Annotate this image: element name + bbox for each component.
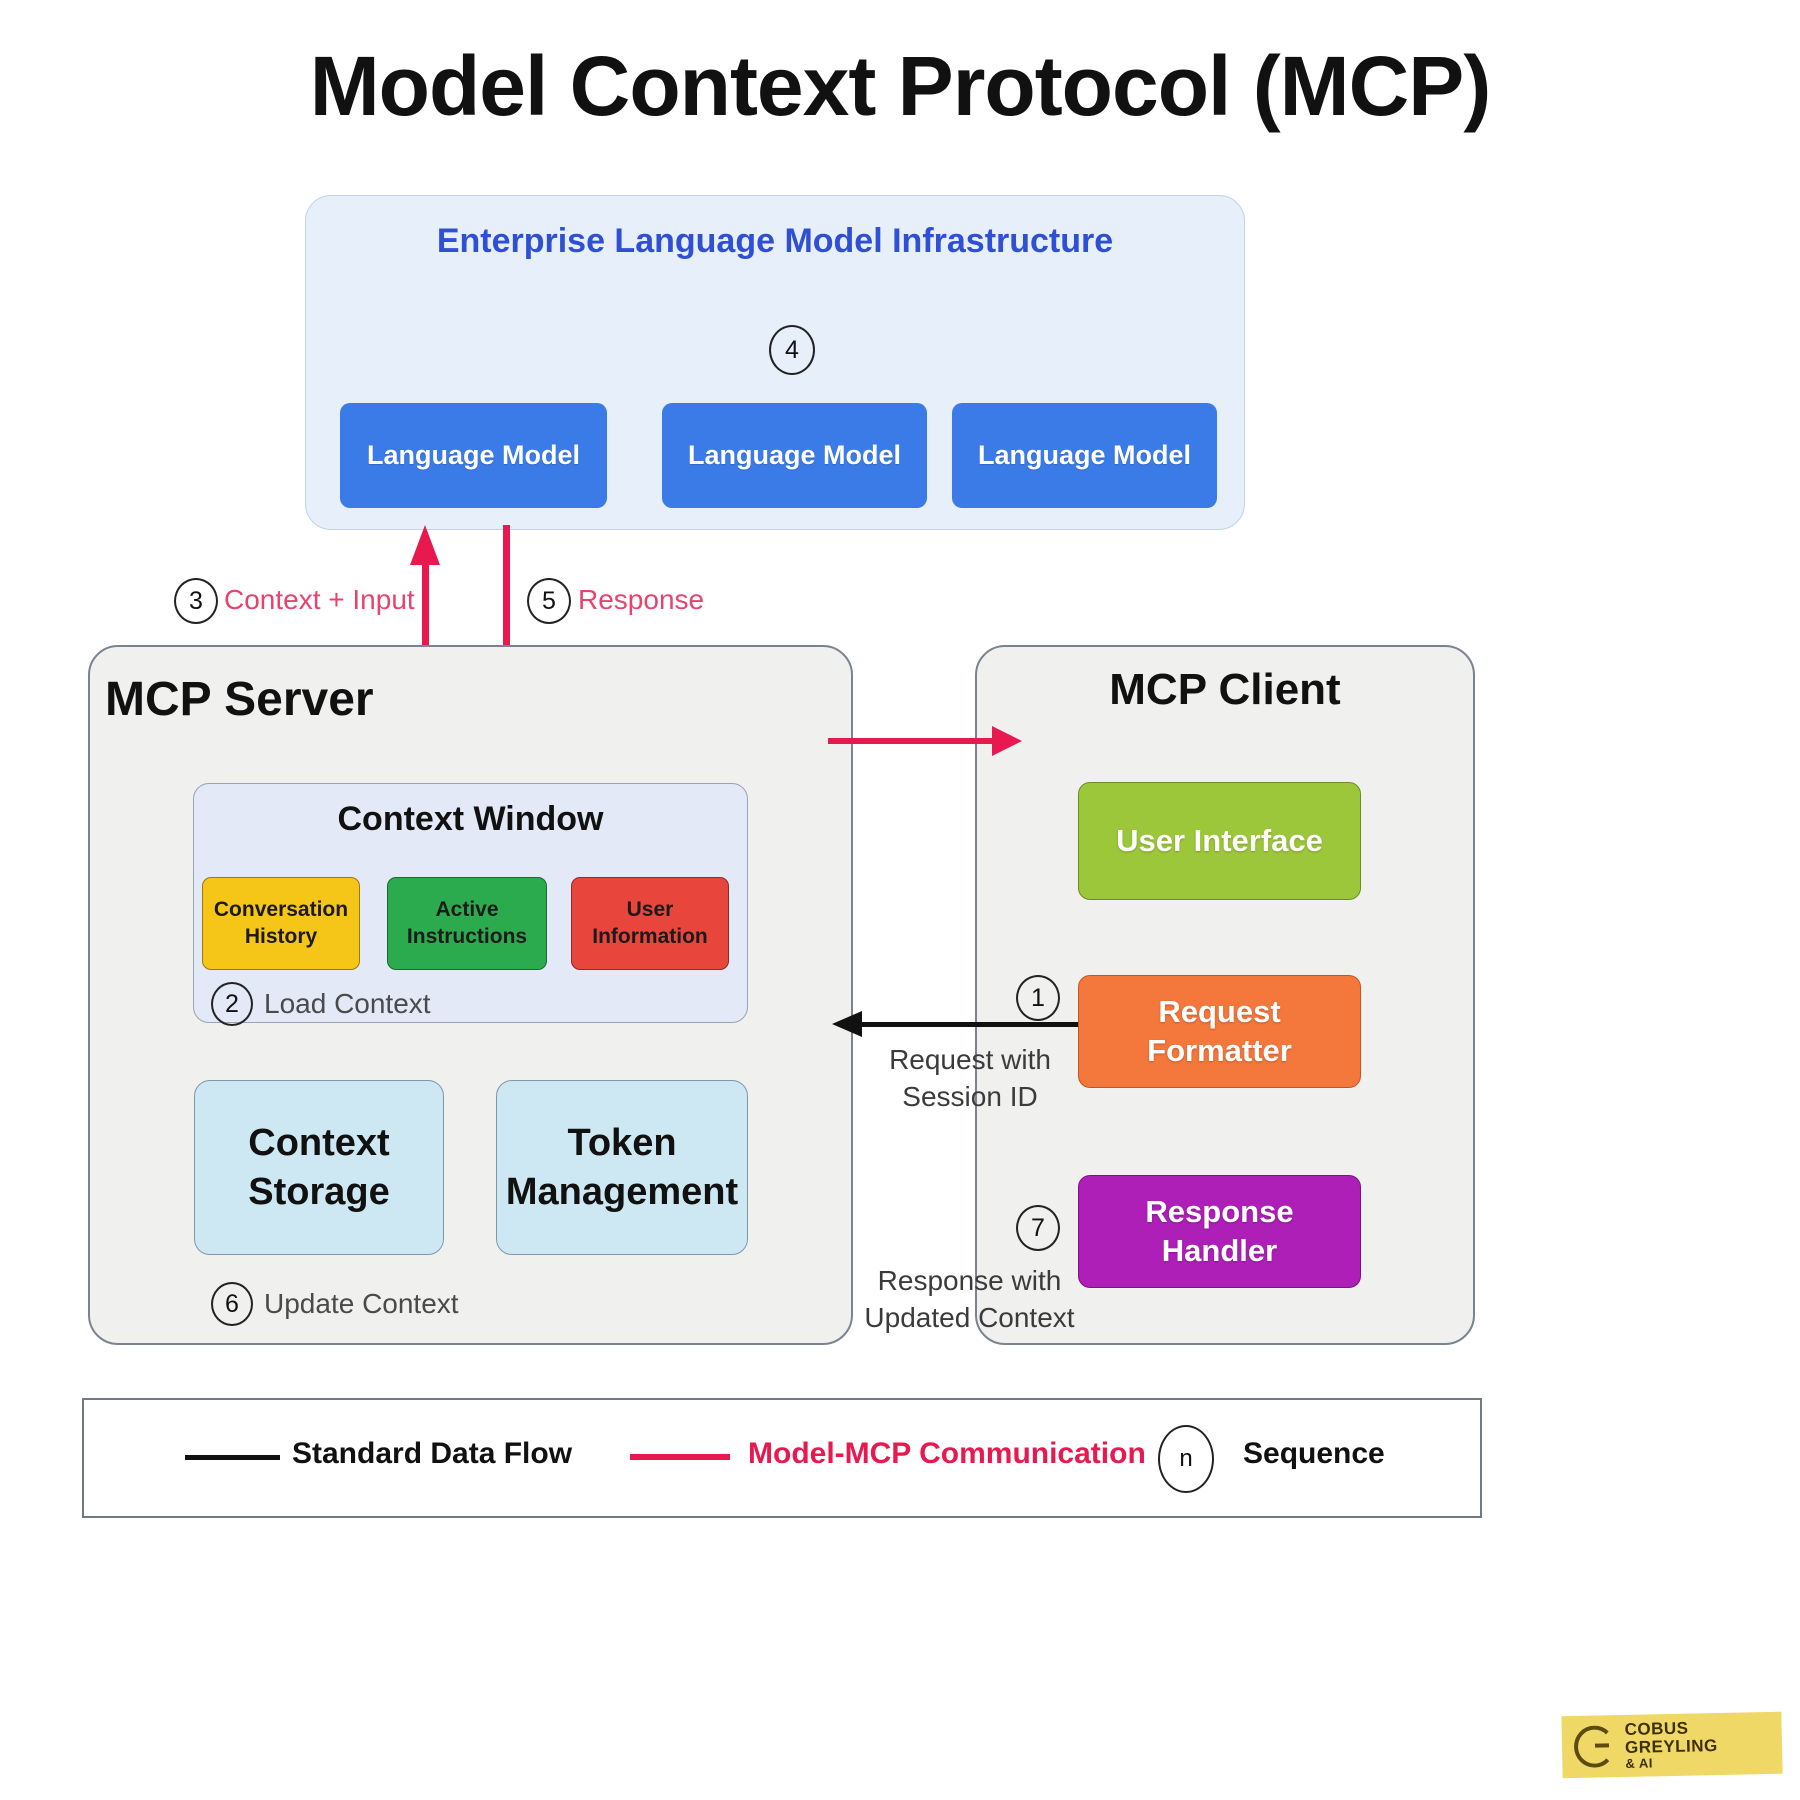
client-box-line-2: Handler: [1162, 1232, 1277, 1271]
context-window-title: Context Window: [193, 800, 748, 839]
watermark-badge: COBUS GREYLING & AI: [1561, 1712, 1782, 1779]
context-chip-conversation-history[interactable]: Conversation History: [202, 877, 360, 970]
sequence-badge-3: 3: [174, 578, 218, 624]
load-context-label: Load Context: [264, 988, 431, 1020]
watermark-text: COBUS GREYLING & AI: [1624, 1717, 1782, 1771]
legend-sequence-badge: n: [1158, 1425, 1214, 1493]
mcp-client-title: MCP Client: [975, 665, 1475, 715]
flow-label-line-2: Session ID: [865, 1079, 1075, 1116]
store-line-1: Token: [567, 1119, 676, 1168]
chip-line-2: History: [245, 924, 317, 950]
client-box-line-2: Formatter: [1147, 1032, 1292, 1071]
watermark-line-1: COBUS GREYLING: [1624, 1717, 1782, 1757]
client-box-line-1: User Interface: [1116, 822, 1323, 861]
token-management-box[interactable]: Token Management: [496, 1080, 748, 1255]
client-to-server-arrow-head: [832, 1011, 862, 1037]
store-line-2: Storage: [248, 1168, 389, 1217]
legend-label-model-mcp-communication: Model-MCP Communication: [748, 1437, 1146, 1471]
server-to-client-arrow-head: [992, 726, 1022, 756]
enterprise-infrastructure-title: Enterprise Language Model Infrastructure: [305, 222, 1245, 261]
store-line-1: Context: [248, 1119, 389, 1168]
page-title: Model Context Protocol (MCP): [0, 38, 1800, 135]
context-storage-box[interactable]: Context Storage: [194, 1080, 444, 1255]
sequence-badge-4: 4: [769, 325, 815, 375]
server-to-client-arrow-shaft: [828, 738, 998, 744]
update-context-label: Update Context: [264, 1288, 459, 1320]
client-box-line-1: Request: [1158, 993, 1280, 1032]
client-to-server-arrow-shaft: [862, 1022, 1078, 1027]
chip-line-1: Active: [435, 897, 498, 923]
user-interface-box[interactable]: User Interface: [1078, 782, 1361, 900]
sequence-badge-2: 2: [211, 982, 253, 1026]
chip-line-2: Instructions: [407, 924, 527, 950]
response-handler-box[interactable]: Response Handler: [1078, 1175, 1361, 1288]
flow-label-line-1: Request with: [865, 1042, 1075, 1079]
cobus-greyling-logo-icon: [1574, 1725, 1616, 1768]
context-chip-user-information[interactable]: User Information: [571, 877, 729, 970]
diagram-canvas: Model Context Protocol (MCP) Enterprise …: [0, 0, 1800, 1800]
request-formatter-box[interactable]: Request Formatter: [1078, 975, 1361, 1088]
response-label: Response: [578, 584, 704, 616]
flow-label-line-2: Updated Context: [862, 1300, 1077, 1337]
chip-line-2: Information: [592, 924, 708, 950]
language-model-box-2[interactable]: Language Model: [662, 403, 927, 508]
watermark-line-2: & AI: [1625, 1754, 1782, 1771]
language-model-box-1[interactable]: Language Model: [340, 403, 607, 508]
legend-swatch-model-mcp-communication: [630, 1454, 730, 1460]
sequence-badge-1: 1: [1016, 975, 1060, 1021]
chip-line-1: User: [627, 897, 674, 923]
chip-line-1: Conversation: [214, 897, 348, 923]
flow-label-line-1: Response with: [862, 1263, 1077, 1300]
response-with-updated-context-label: Response with Updated Context: [862, 1263, 1077, 1337]
context-input-arrow-head: [410, 525, 440, 565]
context-chip-active-instructions[interactable]: Active Instructions: [387, 877, 547, 970]
legend-label-standard-data-flow: Standard Data Flow: [292, 1437, 572, 1471]
sequence-badge-7: 7: [1016, 1205, 1060, 1251]
request-with-session-id-label: Request with Session ID: [865, 1042, 1075, 1116]
context-input-label: Context + Input: [224, 584, 415, 616]
client-box-line-1: Response: [1145, 1193, 1293, 1232]
sequence-badge-5: 5: [527, 578, 571, 624]
legend-swatch-standard-data-flow: [185, 1455, 280, 1460]
mcp-server-title: MCP Server: [105, 672, 374, 727]
legend-label-sequence: Sequence: [1243, 1437, 1385, 1471]
language-model-box-3[interactable]: Language Model: [952, 403, 1217, 508]
store-line-2: Management: [506, 1168, 738, 1217]
sequence-badge-6: 6: [211, 1282, 253, 1326]
